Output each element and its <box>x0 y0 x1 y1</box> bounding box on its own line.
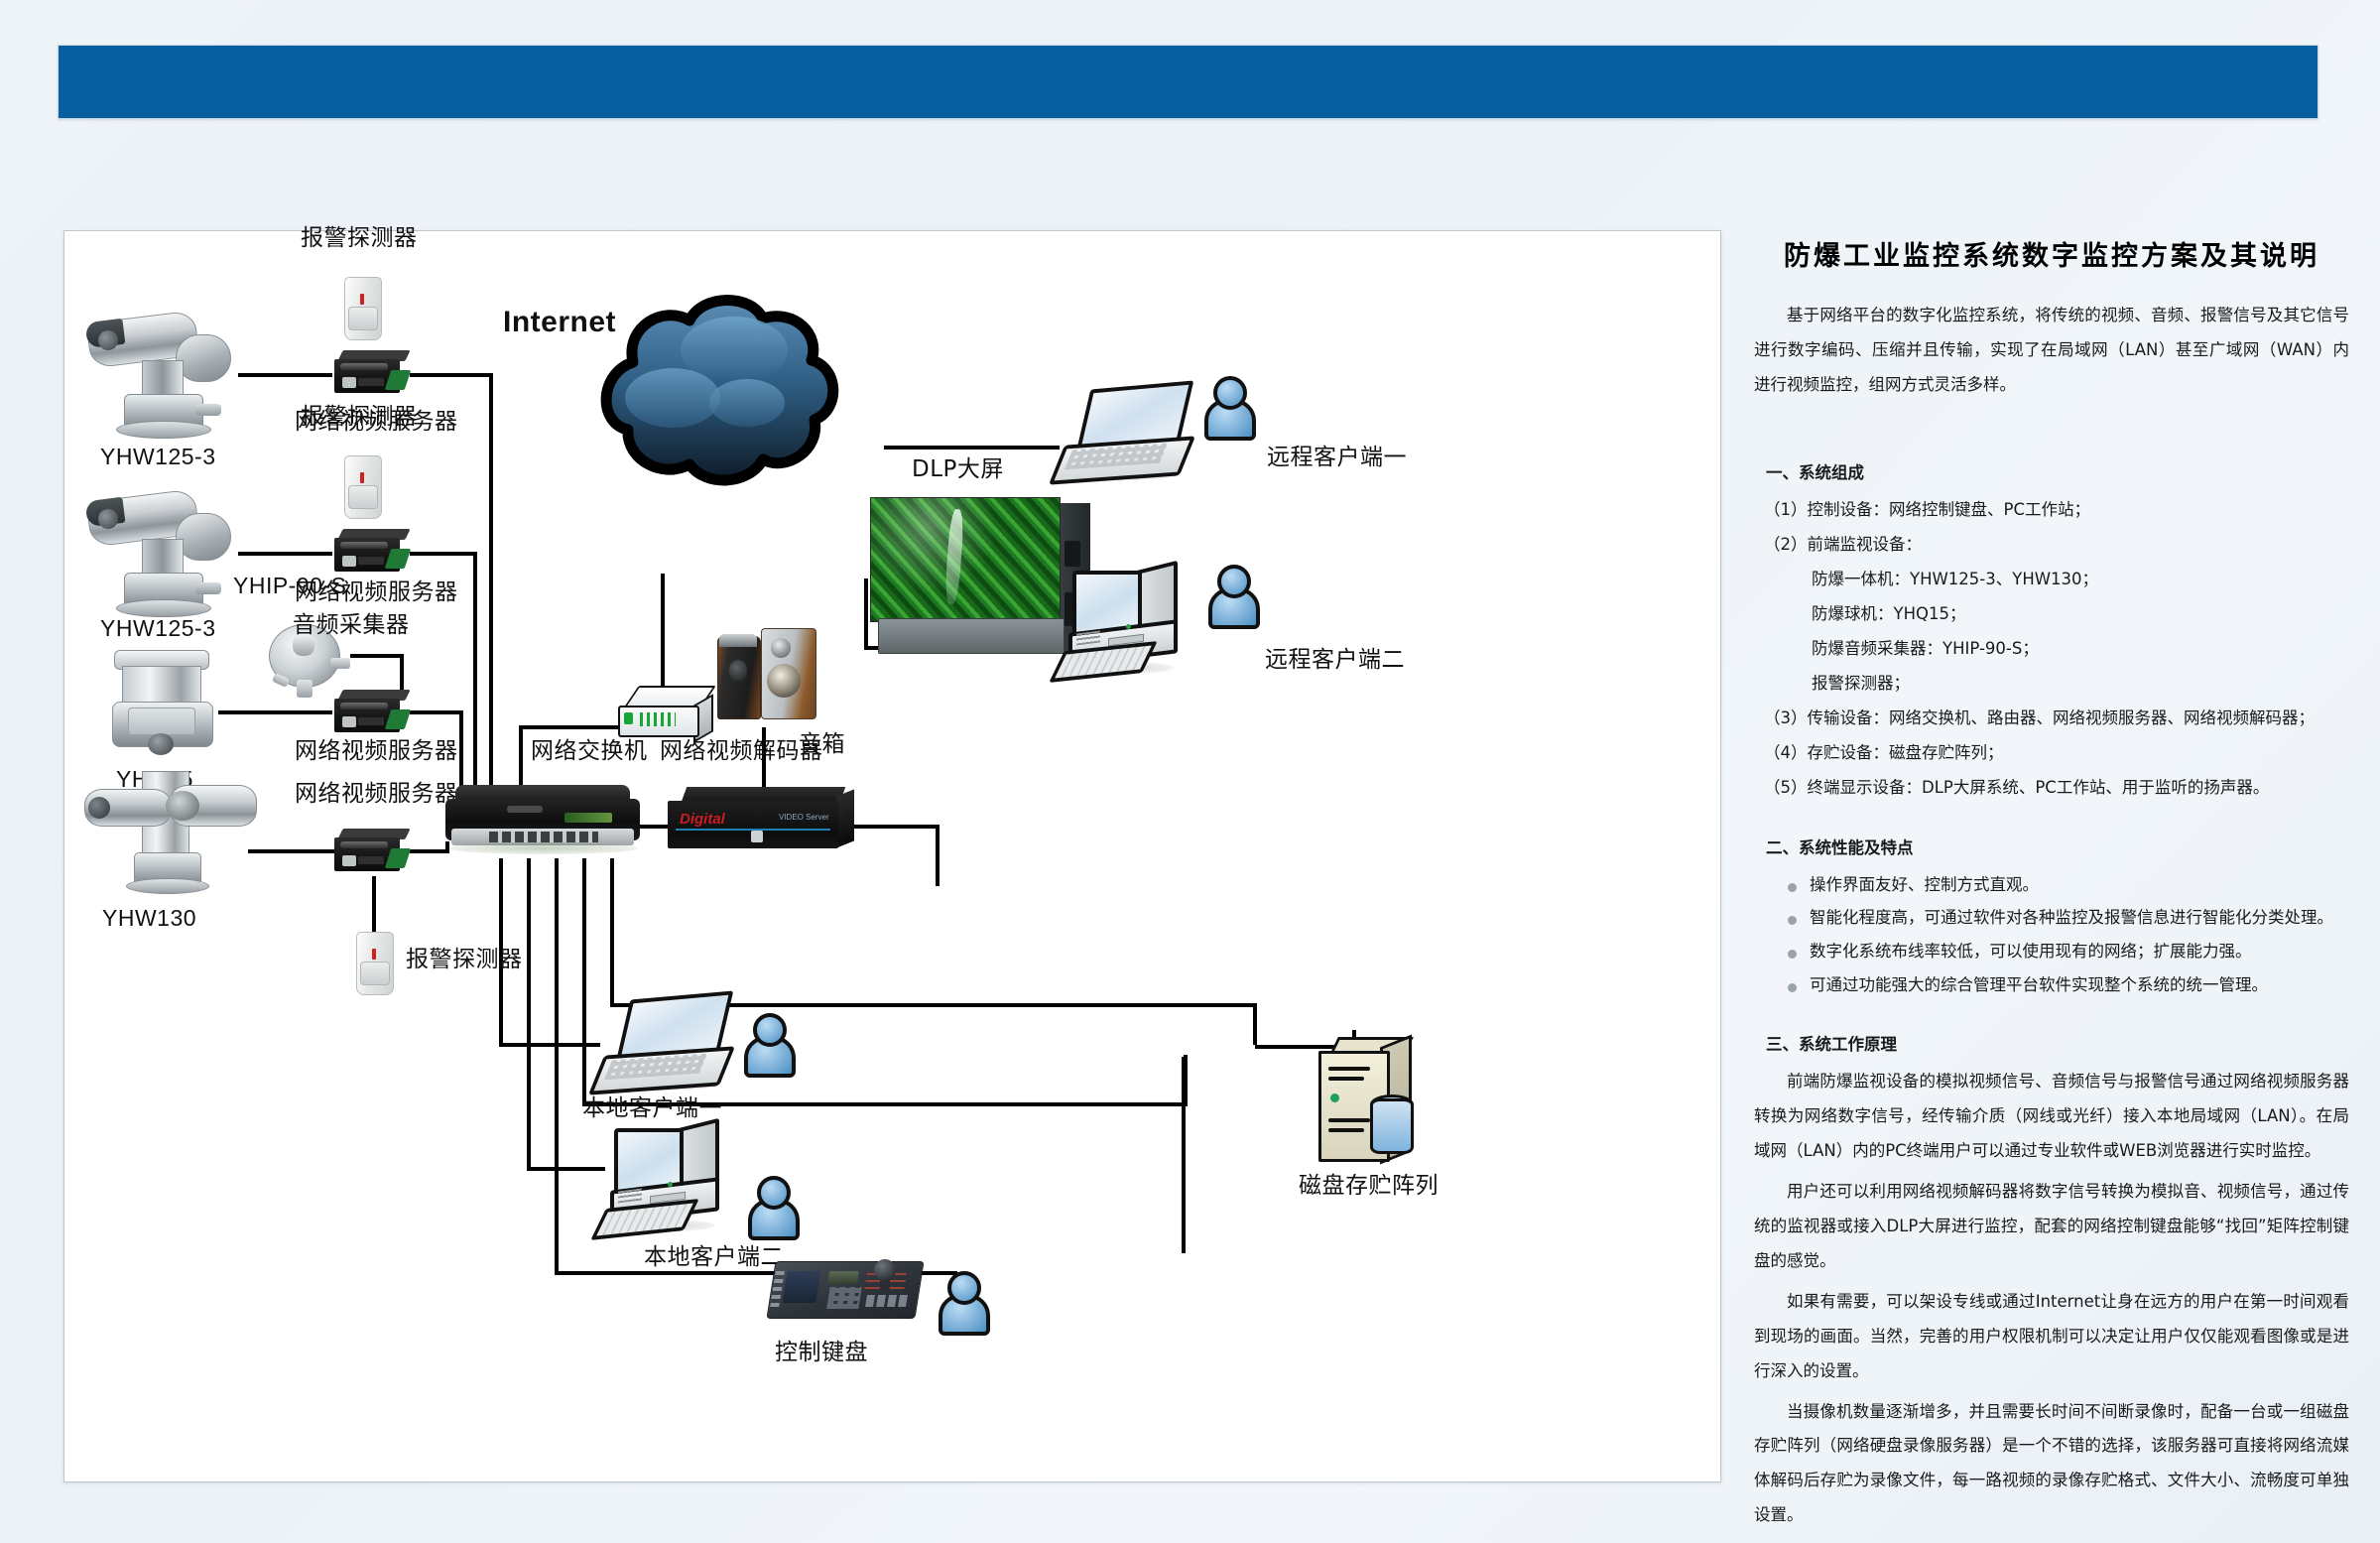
section-3-paragraph-4: 当摄像机数量逐渐增多，并且需要长时间不间断录像时，配备一台或一组磁盘存贮阵列（网… <box>1754 1395 2349 1534</box>
intro-paragraph: 基于网络平台的数字化监控系统，将传统的视频、音频、报警信号及其它信号进行数字编码… <box>1754 299 2349 403</box>
network-diagram-frame: Internet YHW125-3 报警探测器 网络视频服务器 <box>63 230 1721 1482</box>
section-1-heading: 一、系统组成 <box>1766 456 2349 491</box>
section-1-item-3: （3）传输设备：网络交换机、路由器、网络视频服务器、网络视频解码器； <box>1764 702 2349 736</box>
local-client-1-label: 本地客户端一 <box>582 1096 722 1121</box>
section-1-item-1: （1）控制设备：网络控制键盘、PC工作站； <box>1764 493 2349 528</box>
control-keyboard-icon <box>771 1253 920 1325</box>
section-2-heading: 二、系统性能及特点 <box>1766 832 2349 866</box>
video-decoder-icon: Digital VIDEO Server <box>668 787 856 858</box>
page-root: Internet YHW125-3 报警探测器 网络视频服务器 <box>0 0 2380 1543</box>
camera-yhw125-3-a-icon <box>84 309 243 443</box>
remote-client-2-user-icon <box>1207 565 1253 622</box>
remote-client-2-label: 远程客户端二 <box>1265 648 1405 673</box>
network-switch-label: 网络交换机 <box>531 739 648 764</box>
section-1-subitem-1: 防爆一体机：YHW125-3、YHW130； <box>1812 563 2349 597</box>
camera-yhw125-3-b-icon <box>84 487 243 621</box>
section-1-item-5: （5）终端显示设备：DLP大屏系统、PC工作站、用于监听的扬声器。 <box>1764 771 2349 806</box>
audio-pickup-caption-label: 音频采集器 <box>293 613 410 638</box>
decoder-brand-text: Digital <box>680 811 725 828</box>
section-1-subitem-3: 防爆音频采集器：YHIP-90-S； <box>1812 632 2349 667</box>
storage-array-label: 磁盘存贮阵列 <box>1299 1174 1439 1199</box>
network-video-server-1-icon <box>334 350 412 396</box>
local-client-1-laptop-icon <box>596 995 725 1093</box>
alarm-detector-3-label: 报警探测器 <box>406 948 523 972</box>
camera-yhw125-3-a-label: YHW125-3 <box>100 445 215 469</box>
storage-array-icon <box>1318 1037 1414 1164</box>
remote-client-1-label: 远程客户端一 <box>1267 446 1407 470</box>
diagram-canvas: Internet YHW125-3 报警探测器 网络视频服务器 <box>64 231 1720 1481</box>
section-2-bullet-2: 智能化程度高，可通过软件对各种监控及报警信息进行智能化分类处理。 <box>1786 901 2349 935</box>
section-1-item-4: （4）存贮设备：磁盘存贮阵列； <box>1764 736 2349 771</box>
local-client-2-label: 本地客户端二 <box>644 1245 784 1270</box>
camera-yhw130-icon <box>84 767 258 906</box>
network-video-server-3-icon <box>334 690 412 735</box>
dlp-big-screen-label: DLP大屏 <box>912 457 1004 482</box>
remote-client-2-pc-icon <box>1057 567 1191 676</box>
control-keyboard-label: 控制键盘 <box>775 1341 868 1365</box>
remote-client-1-laptop-icon <box>1057 385 1186 482</box>
alarm-detector-3-icon <box>356 932 392 993</box>
network-video-server-3-label: 网络视频服务器 <box>295 739 458 764</box>
alarm-detector-2-icon <box>344 455 380 517</box>
section-1-subitem-2: 防爆球机：YHQ15； <box>1812 597 2349 632</box>
section-3-paragraph-1: 前端防爆监视设备的模拟视频信号、音频信号与报警信号通过网络视频服务器转换为网络数… <box>1754 1065 2349 1169</box>
alarm-detector-1-icon <box>344 277 380 338</box>
remote-client-1-user-icon <box>1203 376 1249 434</box>
document-title: 防爆工业监控系统数字监控方案及其说明 <box>1754 234 2349 273</box>
section-3-heading: 三、系统工作原理 <box>1766 1028 2349 1063</box>
speaker-label: 音箱 <box>799 732 845 757</box>
spacer <box>1754 409 2349 431</box>
section-1-subitem-4: 报警探测器； <box>1812 667 2349 702</box>
header-banner <box>58 45 2318 119</box>
section-1-item-2: （2）前端监视设备： <box>1764 528 2349 563</box>
network-switch-icon <box>445 785 644 858</box>
router-icon <box>616 686 711 743</box>
control-keyboard-user-icon <box>938 1271 983 1329</box>
camera-yhq15-icon <box>110 646 219 765</box>
mic-yhip-90-s-label: YHIP-90-S <box>233 574 346 598</box>
local-client-2-pc-icon <box>598 1124 733 1233</box>
section-2-bullet-1: 操作界面友好、控制方式直观。 <box>1786 868 2349 902</box>
alarm-detector-2-label: 报警探测器 <box>301 405 418 430</box>
internet-label: Internet <box>503 306 616 338</box>
network-video-server-2-icon <box>334 529 412 575</box>
section-3-paragraph-3: 如果有需要，可以架设专线或通过Internet让身在远方的用户在第一时间观看到现… <box>1754 1285 2349 1389</box>
local-client-2-user-icon <box>747 1176 793 1233</box>
camera-yhw125-3-b-label: YHW125-3 <box>100 616 215 641</box>
network-video-server-4-icon <box>334 829 412 874</box>
document-text-column: 防爆工业监控系统数字监控方案及其说明 基于网络平台的数字化监控系统，将传统的视频… <box>1754 234 2349 1539</box>
alarm-detector-1-label: 报警探测器 <box>301 226 418 251</box>
local-client-1-user-icon <box>743 1013 789 1071</box>
decoder-sub-text: VIDEO Server <box>779 813 829 822</box>
section-3-paragraph-2: 用户还可以利用网络视频解码器将数字信号转换为模拟音、视频信号，通过传统的监视器或… <box>1754 1175 2349 1279</box>
camera-yhw130-label: YHW130 <box>102 906 196 931</box>
speaker-icon <box>717 628 816 719</box>
section-2-bullet-4: 可通过功能强大的综合管理平台软件实现整个系统的统一管理。 <box>1786 968 2349 1002</box>
network-video-server-4-label: 网络视频服务器 <box>295 782 458 807</box>
section-2-bullet-3: 数字化系统布线率较低，可以使用现有的网络；扩展能力强。 <box>1786 935 2349 968</box>
